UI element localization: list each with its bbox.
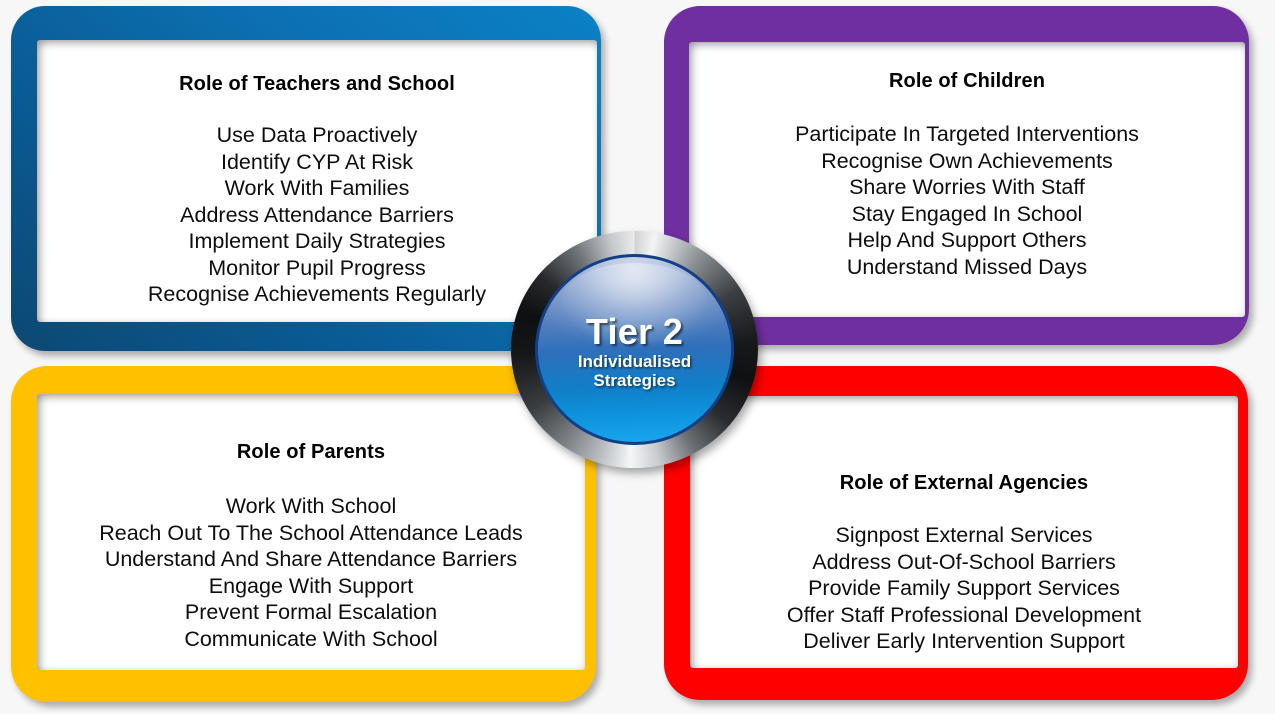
quadrant-agencies-list: Signpost External Services Address Out-O… (690, 522, 1238, 655)
badge-title: Tier 2 (586, 313, 683, 351)
list-item: Work With Families (37, 175, 597, 202)
quadrant-children-content: Role of Children Participate In Targeted… (689, 42, 1245, 317)
quadrant-teachers-title: Role of Teachers and School (37, 73, 597, 96)
badge-subtitle-line2: Strategies (578, 371, 691, 390)
list-item: Work With School (37, 493, 585, 520)
list-item: Understand And Share Attendance Barriers (37, 546, 585, 573)
list-item: Use Data Proactively (37, 122, 597, 149)
list-item: Provide Family Support Services (690, 575, 1238, 602)
list-item: Recognise Own Achievements (689, 148, 1245, 175)
quadrant-parents-list: Work With School Reach Out To The School… (37, 493, 585, 652)
list-item: Prevent Formal Escalation (37, 599, 585, 626)
quadrant-parents[interactable]: Role of Parents Work With School Reach O… (11, 366, 596, 702)
list-item: Signpost External Services (690, 522, 1238, 549)
badge-subtitle-line1: Individualised (578, 352, 691, 371)
list-item: Address Out-Of-School Barriers (690, 549, 1238, 576)
quadrant-agencies-title: Role of External Agencies (690, 472, 1238, 495)
badge-subtitle: Individualised Strategies (578, 352, 691, 390)
center-badge[interactable]: Tier 2 Individualised Strategies (511, 231, 758, 468)
list-item: Offer Staff Professional Development (690, 602, 1238, 629)
list-item: Identify CYP At Risk (37, 149, 597, 176)
quadrant-agencies-content: Role of External Agencies Signpost Exter… (690, 396, 1238, 668)
list-item: Deliver Early Intervention Support (690, 628, 1238, 655)
badge-text-group: Tier 2 Individualised Strategies (511, 231, 758, 468)
list-item: Communicate With School (37, 626, 585, 653)
quadrant-children-title: Role of Children (689, 70, 1245, 93)
quadrant-children-list: Participate In Targeted Interventions Re… (689, 121, 1245, 280)
list-item: Reach Out To The School Attendance Leads (37, 520, 585, 547)
list-item: Engage With Support (37, 573, 585, 600)
list-item: Help And Support Others (689, 227, 1245, 254)
quadrant-parents-content: Role of Parents Work With School Reach O… (37, 394, 585, 670)
list-item: Stay Engaged In School (689, 201, 1245, 228)
list-item: Share Worries With Staff (689, 174, 1245, 201)
list-item: Understand Missed Days (689, 254, 1245, 281)
diagram-canvas: Role of Teachers and School Use Data Pro… (0, 0, 1275, 714)
list-item: Address Attendance Barriers (37, 202, 597, 229)
quadrant-parents-title: Role of Parents (37, 441, 585, 464)
list-item: Participate In Targeted Interventions (689, 121, 1245, 148)
